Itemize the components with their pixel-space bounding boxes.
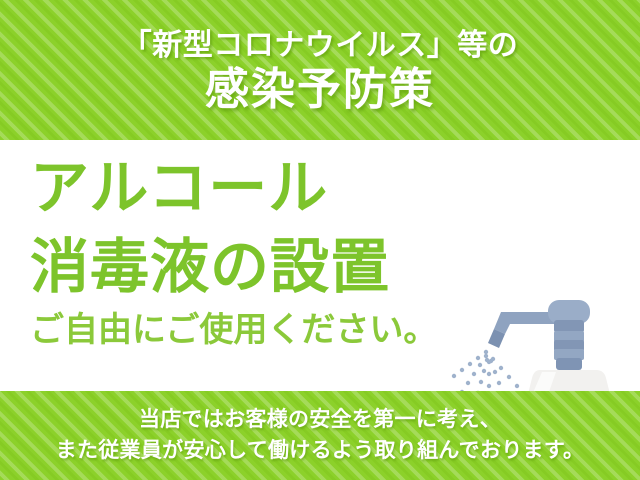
pump-nozzle-arm	[488, 312, 555, 348]
main-content-area: アルコール 消毒液の設置 ご自由にご使用ください。	[0, 140, 640, 391]
headline-line-1: アルコール	[30, 158, 430, 219]
poster-root: 「新型コロナウイルス」等の 感染予防策 アルコール 消毒液の設置 ご自由にご使用…	[0, 0, 640, 480]
footer-line-2: また従業員が安心して働けるよう取り組んでおります。	[56, 436, 585, 466]
header-line-2: 感染予防策	[205, 66, 435, 114]
footer-band: 当店ではお客様の安全を第一に考え、 また従業員が安心して働けるよう取り組んでおり…	[0, 391, 640, 480]
pump-head	[548, 300, 590, 370]
headline-block: アルコール 消毒液の設置 ご自由にご使用ください。	[30, 148, 430, 349]
header-line-1: 「新型コロナウイルス」等の	[122, 30, 519, 62]
headline-subline: ご自由にご使用ください。	[30, 312, 430, 349]
header-band: 「新型コロナウイルス」等の 感染予防策	[0, 0, 640, 140]
footer-line-1: 当店ではお客様の安全を第一に考え、	[139, 405, 501, 435]
headline-line-2: 消毒液の設置	[30, 237, 430, 298]
